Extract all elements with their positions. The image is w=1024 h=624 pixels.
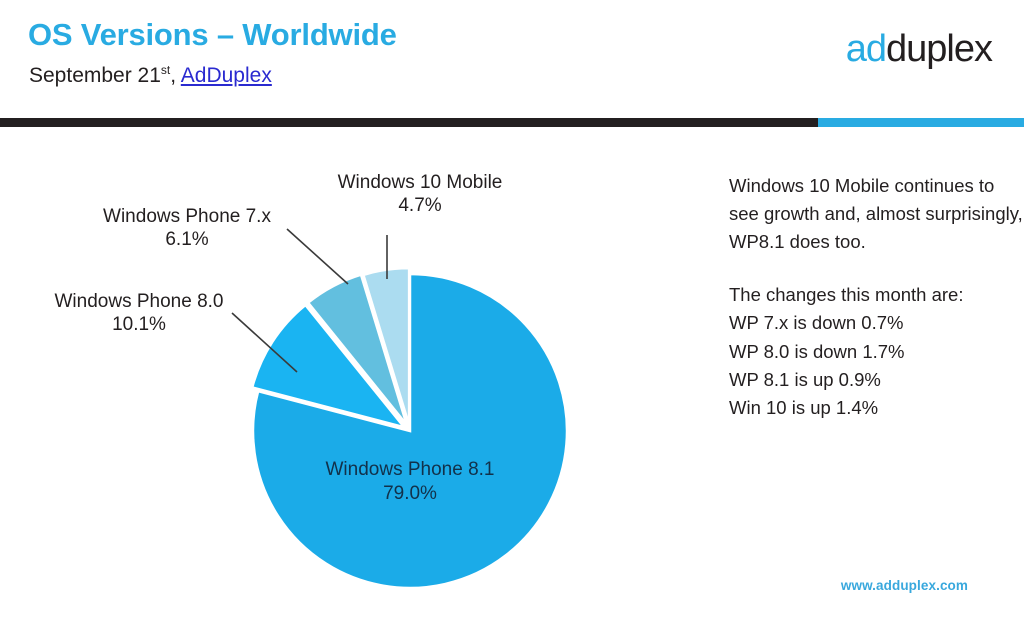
logo-text-ad: ad: [846, 28, 886, 70]
commentary-spacer: [729, 256, 1024, 281]
pie-label-name: Windows 10 Mobile: [338, 172, 503, 193]
logo-text-duplex: duplex: [886, 28, 992, 70]
subtitle-date: September 21: [29, 64, 161, 87]
subtitle-ordinal-suffix: st: [161, 63, 170, 77]
pie-label-value: 6.1%: [78, 228, 296, 251]
divider-dark-segment: [0, 118, 818, 127]
page-header: OS Versions – Worldwide September 21st, …: [0, 0, 1024, 118]
footer-website-url[interactable]: www.adduplex.com: [841, 578, 968, 593]
subtitle-separator: ,: [170, 64, 181, 87]
pie-label-name: Windows Phone 7.x: [103, 206, 271, 227]
divider-accent-segment: [818, 118, 1024, 127]
pie-label-windows-10-mobile: Windows 10 Mobile 4.7%: [315, 171, 525, 217]
pie-label-windows-phone-7x: Windows Phone 7.x 6.1%: [78, 205, 296, 251]
pie-chart: Windows 10 Mobile 4.7% Windows Phone 7.x…: [0, 127, 700, 624]
change-item-wp7x: WP 7.x is down 0.7%: [729, 309, 1024, 337]
pie-label-value: 10.1%: [28, 313, 250, 336]
change-item-wp80: WP 8.0 is down 1.7%: [729, 338, 1024, 366]
change-item-win10: Win 10 is up 1.4%: [729, 394, 1024, 422]
adduplex-logo: adduplex: [846, 30, 992, 68]
pie-slice-group: [252, 268, 567, 588]
header-divider: [0, 118, 1024, 127]
leader-line-windows-phone-7x: [287, 229, 348, 284]
pie-label-name: Windows Phone 8.1: [326, 459, 495, 480]
changes-heading: The changes this month are:: [729, 281, 1024, 309]
adduplex-link[interactable]: AdDuplex: [181, 64, 272, 87]
commentary-paragraph: Windows 10 Mobile continues to see growt…: [729, 172, 1024, 256]
pie-label-value: 79.0%: [280, 482, 540, 506]
pie-label-windows-phone-81: Windows Phone 8.1 79.0%: [280, 458, 540, 506]
change-item-wp81: WP 8.1 is up 0.9%: [729, 366, 1024, 394]
pie-label-value: 4.7%: [315, 194, 525, 217]
pie-label-name: Windows Phone 8.0: [55, 291, 224, 312]
page-subtitle: September 21st, AdDuplex: [29, 64, 272, 88]
commentary-panel: Windows 10 Mobile continues to see growt…: [729, 172, 1024, 422]
pie-label-windows-phone-80: Windows Phone 8.0 10.1%: [28, 290, 250, 336]
page-title: OS Versions – Worldwide: [28, 17, 397, 53]
